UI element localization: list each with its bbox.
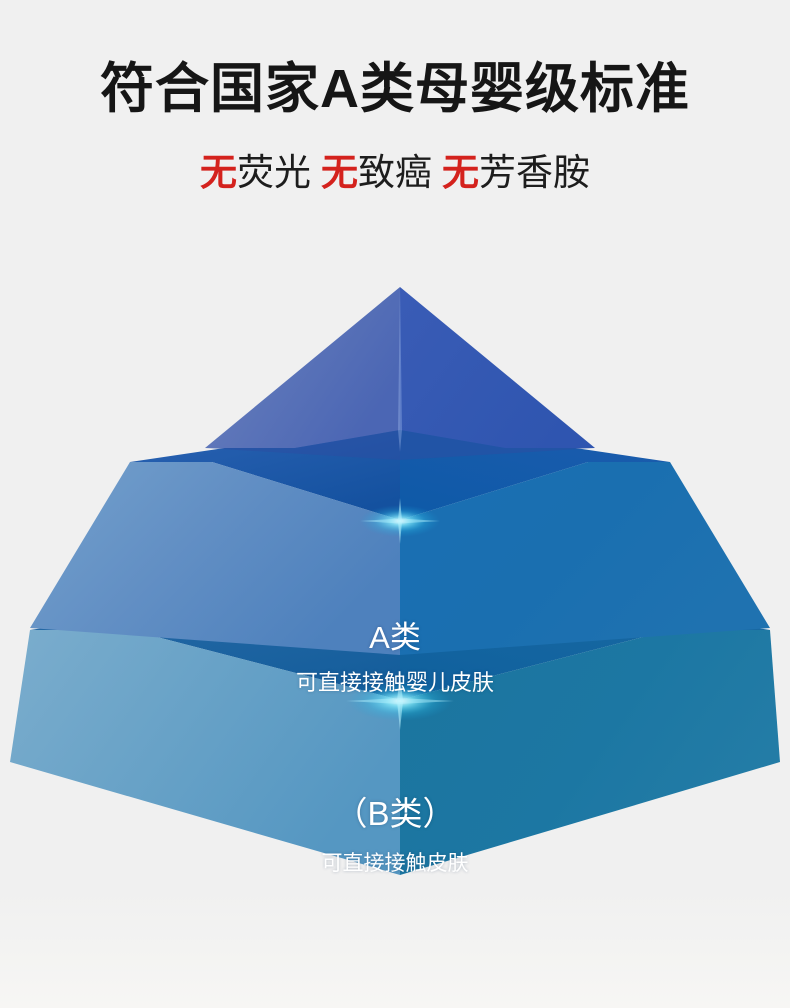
claim-text: 荧光 [237, 152, 311, 193]
claims-row: 无荧光无致癌无芳香胺 [0, 151, 790, 195]
claim-text: 芳香胺 [479, 152, 590, 193]
claim-prefix: 无 [442, 152, 479, 193]
claim-prefix: 无 [200, 152, 237, 193]
claim-item-0: 无荧光 [200, 152, 311, 193]
claim-item-2: 无芳香胺 [442, 152, 590, 193]
claim-prefix: 无 [321, 152, 358, 193]
pyramid-tier-a [205, 287, 595, 460]
promo-page: 符合国家A类母婴级标准 无荧光无致癌无芳香胺 [0, 0, 790, 1008]
claim-item-1: 无致癌 [321, 152, 432, 193]
claim-text: 致癌 [358, 152, 432, 193]
page-title: 符合国家A类母婴级标准 [0, 58, 790, 122]
pyramid-diagram: A类 可直接接触婴儿皮肤 （B类） 可直接接触皮肤 （C类） 不可接触皮肤 [0, 270, 790, 890]
